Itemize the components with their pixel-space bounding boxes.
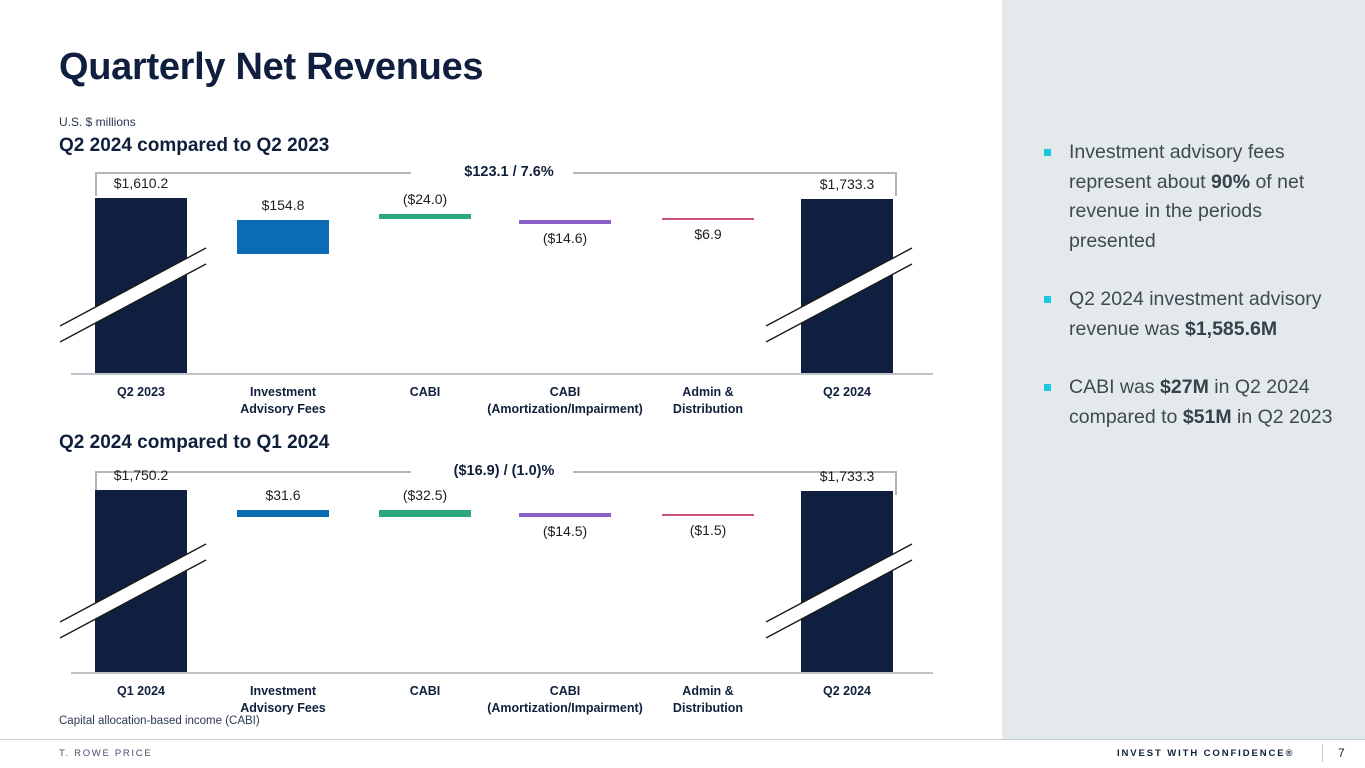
bullet-square-icon bbox=[1044, 296, 1051, 303]
delta-bar bbox=[379, 510, 471, 517]
sidebar-bullet-list: Investment advisory fees represent about… bbox=[1038, 138, 1338, 461]
bracket-line-right bbox=[573, 172, 896, 174]
category-label: Q2 2024 bbox=[737, 384, 957, 401]
bar-value-label: $154.8 bbox=[213, 197, 353, 213]
bar-value-label: ($14.5) bbox=[495, 523, 635, 539]
delta-bar bbox=[519, 220, 611, 224]
chart-2-heading: Q2 2024 compared to Q1 2024 bbox=[59, 432, 329, 454]
waterfall-chart-q1-2024: ($16.9) / (1.0)%$1,750.2Q1 2024$31.6Inve… bbox=[59, 461, 939, 723]
bar-value-label: ($24.0) bbox=[355, 191, 495, 207]
chart-1-heading: Q2 2024 compared to Q2 2023 bbox=[59, 135, 329, 157]
page-number: 7 bbox=[1338, 746, 1345, 760]
total-bar bbox=[801, 199, 893, 373]
sidebar-bullet: CABI was $27M in Q2 2024 compared to $51… bbox=[1038, 373, 1338, 432]
bullet-square-icon bbox=[1044, 384, 1051, 391]
bar-value-label: $1,733.3 bbox=[777, 468, 917, 484]
sidebar-bullet: Investment advisory fees represent about… bbox=[1038, 138, 1338, 256]
footnote: Capital allocation-based income (CABI) bbox=[59, 715, 260, 727]
total-bar bbox=[801, 491, 893, 672]
chart-baseline bbox=[71, 672, 933, 674]
delta-bar bbox=[237, 220, 329, 254]
sidebar-panel: Investment advisory fees represent about… bbox=[1002, 0, 1365, 739]
delta-bar bbox=[379, 214, 471, 219]
sidebar-bullet-text: Q2 2024 investment advisory revenue was … bbox=[1069, 288, 1322, 340]
slide: Investment advisory fees represent about… bbox=[0, 0, 1365, 768]
sidebar-bullet: Q2 2024 investment advisory revenue was … bbox=[1038, 285, 1338, 344]
bar-value-label: $1,733.3 bbox=[777, 176, 917, 192]
bar-value-label: $1,750.2 bbox=[71, 467, 211, 483]
total-bar bbox=[95, 198, 187, 373]
bracket-total-label: ($16.9) / (1.0)% bbox=[444, 463, 564, 479]
bullet-square-icon bbox=[1044, 149, 1051, 156]
delta-bar bbox=[519, 513, 611, 517]
chart-baseline bbox=[71, 373, 933, 375]
bar-value-label: ($1.5) bbox=[638, 522, 778, 538]
sidebar-bullet-text: Investment advisory fees represent about… bbox=[1069, 141, 1304, 252]
bracket-line-left bbox=[95, 172, 411, 174]
footer-page-divider bbox=[1322, 744, 1323, 762]
bar-value-label: $1,610.2 bbox=[71, 175, 211, 191]
category-label: Q2 2024 bbox=[737, 683, 957, 700]
bar-value-label: ($14.6) bbox=[495, 230, 635, 246]
delta-bar bbox=[237, 510, 329, 517]
delta-bar bbox=[662, 218, 754, 220]
bar-value-label: ($32.5) bbox=[355, 487, 495, 503]
bar-value-label: $6.9 bbox=[638, 226, 778, 242]
page-title: Quarterly Net Revenues bbox=[59, 46, 483, 89]
footer-tagline: INVEST WITH CONFIDENCE® bbox=[1117, 748, 1294, 759]
bar-value-label: $31.6 bbox=[213, 487, 353, 503]
waterfall-chart-q2-2023: $123.1 / 7.6%$1,610.2Q2 2023$154.8Invest… bbox=[59, 162, 939, 424]
units-label: U.S. $ millions bbox=[59, 115, 136, 129]
total-bar bbox=[95, 490, 187, 672]
footer-divider-rule bbox=[0, 739, 1365, 740]
bracket-total-label: $123.1 / 7.6% bbox=[449, 164, 569, 180]
footer-brand: T. ROWE PRICE bbox=[59, 748, 152, 759]
delta-bar bbox=[662, 514, 754, 516]
sidebar-bullet-text: CABI was $27M in Q2 2024 compared to $51… bbox=[1069, 376, 1332, 428]
